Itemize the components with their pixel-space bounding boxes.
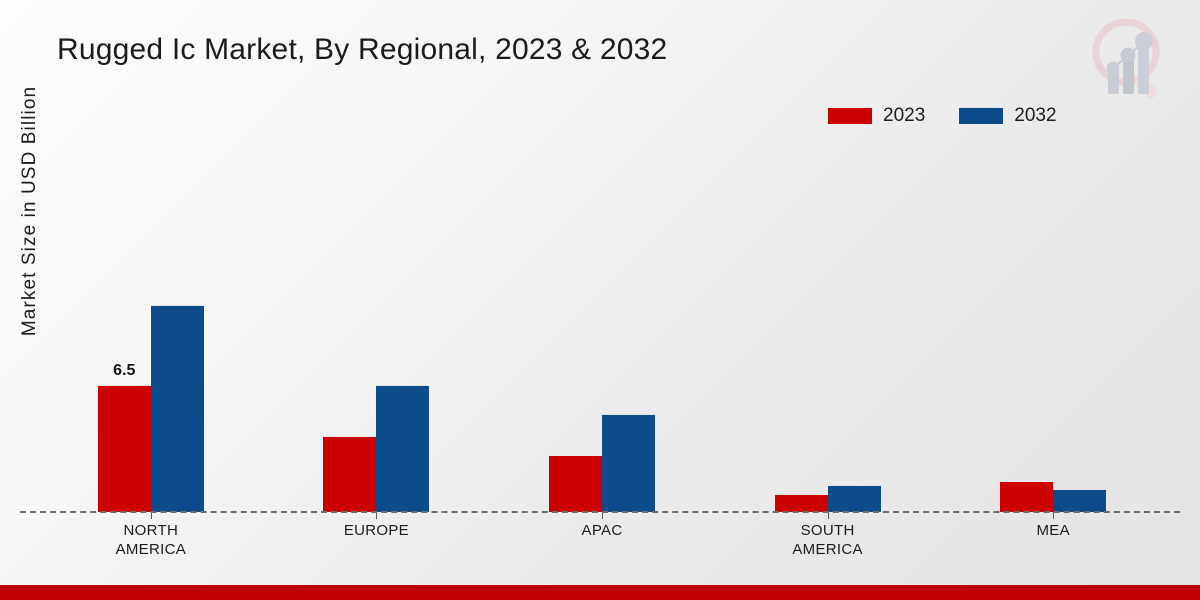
tick-apac [602, 512, 603, 519]
bar-group-europe: EUROPE [264, 0, 490, 512]
bar-2032-apac[interactable] [602, 414, 655, 512]
bar-value-2023-north-america: 6.5 [98, 363, 151, 379]
bar-2032-mea[interactable] [1053, 489, 1106, 512]
bar-group-apac: APAC [489, 0, 715, 512]
bar-2023-south-america[interactable] [775, 494, 828, 512]
tick-south-america [828, 512, 829, 519]
bar-2032-north-america[interactable] [151, 305, 204, 512]
bar-groups: 6.5 NORTH AMERICA [38, 0, 1166, 512]
tick-mea [1053, 512, 1054, 519]
tick-europe [376, 512, 377, 519]
category-label-europe: EUROPE [281, 522, 471, 541]
category-label-apac: APAC [507, 522, 697, 541]
bar-group-mea: MEA [940, 0, 1166, 512]
bar-2023-europe[interactable] [323, 436, 376, 512]
category-label-line2: AMERICA [733, 541, 923, 560]
category-label-south-america: SOUTH AMERICA [733, 522, 923, 560]
tick-north-america [151, 512, 152, 519]
bar-group-south-america: SOUTH AMERICA [715, 0, 941, 512]
plot-area: 6.5 NORTH AMERICA [0, 0, 1200, 512]
category-label-mea: MEA [958, 522, 1148, 541]
bar-group-north-america: 6.5 NORTH AMERICA [38, 0, 264, 512]
bar-2023-mea[interactable] [1000, 481, 1053, 512]
category-label-line2: AMERICA [56, 541, 246, 560]
category-label-line1: SOUTH [733, 522, 923, 541]
bars-europe [323, 0, 429, 512]
category-label-line1: APAC [507, 522, 697, 541]
category-label-line1: MEA [958, 522, 1148, 541]
category-label-north-america: NORTH AMERICA [56, 522, 246, 560]
bar-2032-europe[interactable] [376, 385, 429, 512]
bars-apac [549, 0, 655, 512]
bar-2023-apac[interactable] [549, 455, 602, 512]
bar-2032-south-america[interactable] [828, 485, 881, 512]
category-label-line1: EUROPE [281, 522, 471, 541]
chart-container: Rugged Ic Market, By Regional, 2023 & 20… [0, 0, 1200, 600]
category-label-line1: NORTH [56, 522, 246, 541]
bar-2023-north-america[interactable] [98, 385, 151, 512]
bars-mea [1000, 0, 1106, 512]
footer-accent-band [0, 585, 1200, 600]
axis-baseline [20, 511, 1180, 513]
bars-north-america: 6.5 [98, 0, 204, 512]
bars-south-america [775, 0, 881, 512]
